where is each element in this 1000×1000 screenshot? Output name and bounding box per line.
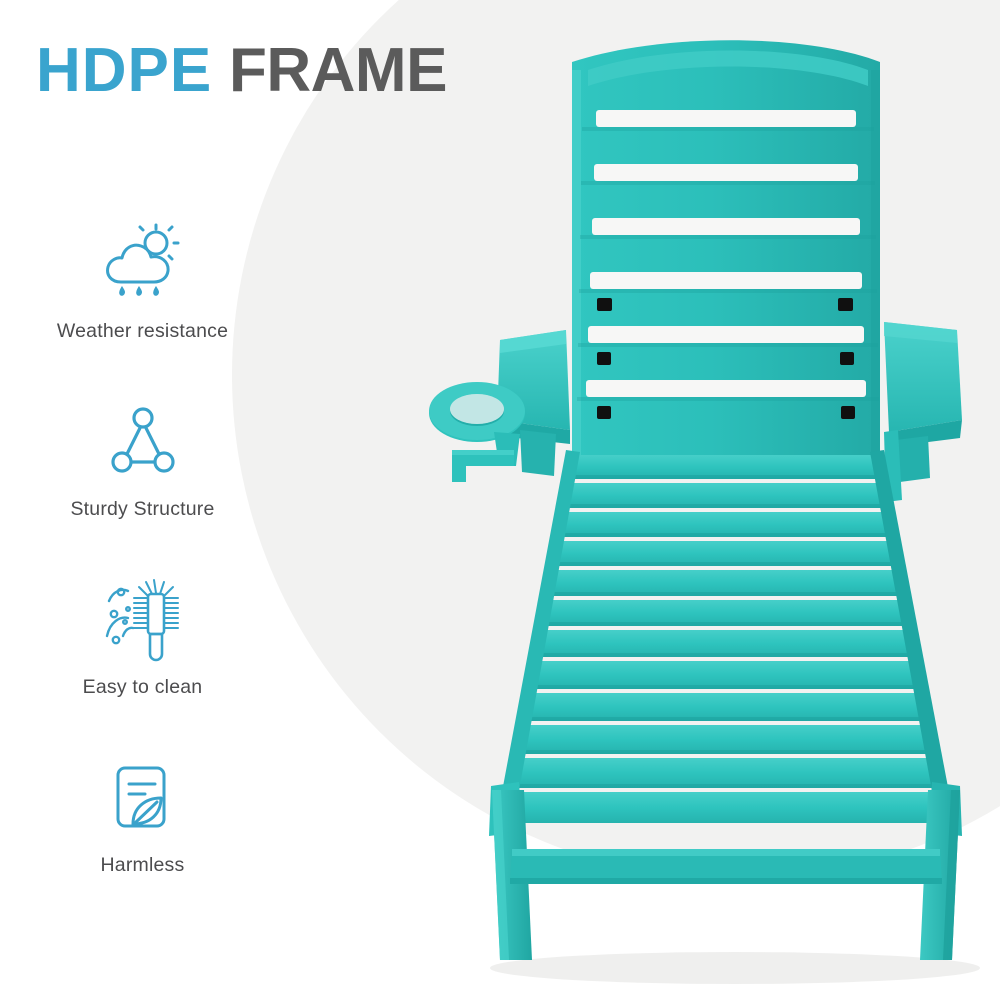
feature-item-harmless: Harmless xyxy=(10,756,275,934)
feature-item-sturdy-structure: Sturdy Structure xyxy=(10,400,275,578)
feature-list: Weather resistance Sturdy Structure xyxy=(10,222,275,934)
feature-label: Weather resistance xyxy=(10,320,275,343)
cup-holder xyxy=(429,382,525,482)
infographic-canvas: HDPE FRAME xyxy=(0,0,1000,1000)
chair-shadow xyxy=(490,952,980,984)
right-armrest xyxy=(884,322,962,502)
feature-label: Harmless xyxy=(10,854,275,877)
feature-item-weather-resistance: Weather resistance xyxy=(10,222,275,400)
cloud-rain-sun-icon xyxy=(95,222,191,308)
foot-crossbar xyxy=(510,849,942,884)
certificate-leaf-icon xyxy=(95,756,191,842)
feature-label: Sturdy Structure xyxy=(10,498,275,521)
backrest xyxy=(572,40,880,455)
cleaning-brush-icon xyxy=(95,578,191,664)
feature-label: Easy to clean xyxy=(10,676,275,699)
triangle-nodes-icon xyxy=(95,400,191,486)
feature-item-easy-to-clean: Easy to clean xyxy=(10,578,275,756)
